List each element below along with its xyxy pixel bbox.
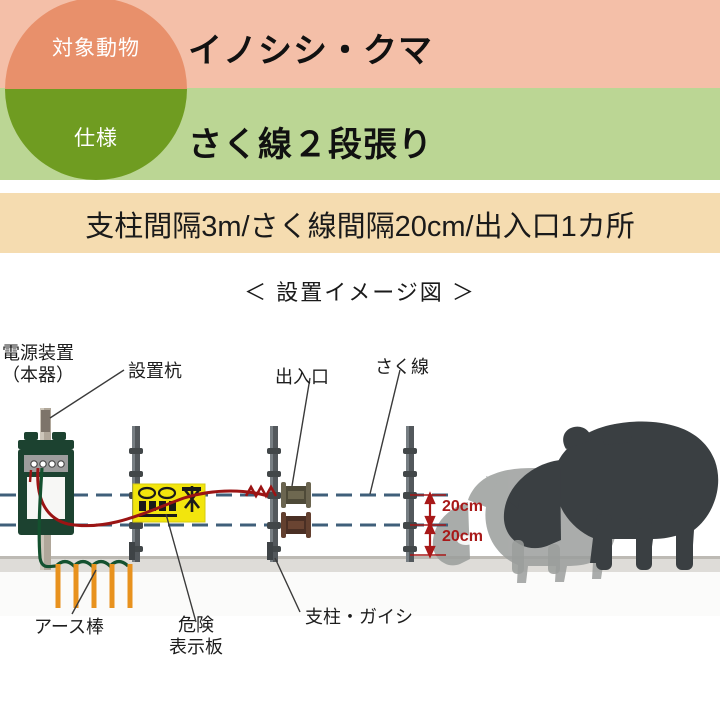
label-power-unit-line2: （本器） (2, 364, 74, 386)
diagram-title: ＜ 設置イメージ図 ＞ (0, 275, 720, 307)
fence-post-3 (403, 426, 417, 562)
label-danger-sign-line2: 表示板 (148, 636, 244, 658)
label-earth-rod: アース棒 (34, 616, 104, 638)
spec-value: さく線２段張り (188, 117, 433, 166)
label-danger-sign-line1: 危険 (148, 614, 244, 636)
label-power-unit: 電源装置 （本器） (2, 342, 74, 386)
diagram-canvas (0, 318, 720, 720)
label-power-unit-line1: 電源装置 (2, 342, 74, 364)
power-supply-unit (18, 408, 74, 570)
gate-handle-lower (281, 512, 311, 538)
label-install-stake: 設置杭 (128, 360, 182, 382)
animal-target-band: イノシシ・クマ (0, 0, 720, 88)
dimension-label-lower: 20cm (442, 528, 483, 546)
label-danger-sign: 危険 表示板 (148, 614, 244, 658)
label-post-insulator: 支柱・ガイシ (305, 606, 413, 628)
spec-band: さく線２段張り (0, 88, 720, 180)
label-fence-wire: さく線 (375, 356, 429, 378)
detail-spec-text: 支柱間隔3m/さく線間隔20cm/出入口1カ所 (0, 203, 720, 245)
gate-handle-upper (281, 482, 311, 508)
installation-diagram: 電源装置 （本器） 設置杭 出入口 さく線 アース棒 危険 表示板 支柱・ガイシ… (0, 318, 720, 720)
animal-target-value: イノシシ・クマ (188, 23, 433, 72)
dimension-arrow-lower (426, 524, 434, 556)
dimension-label-upper: 20cm (442, 498, 483, 516)
dimension-arrow-upper (426, 494, 434, 526)
label-gateway: 出入口 (275, 366, 329, 388)
bear-silhouette (504, 421, 718, 570)
